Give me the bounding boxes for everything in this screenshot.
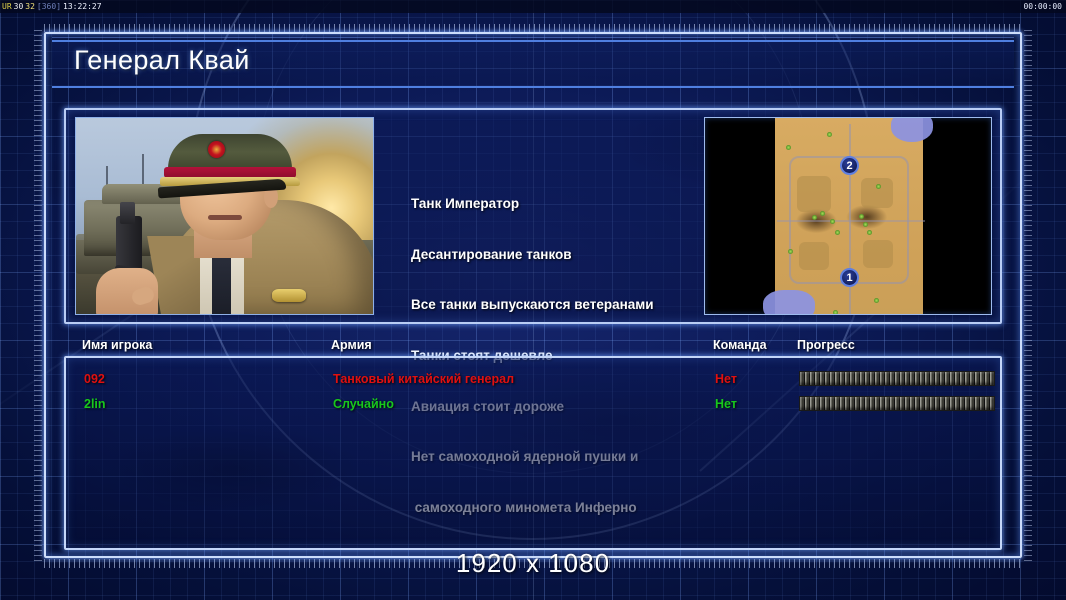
minimap-tree: [820, 211, 825, 216]
status-bar-left: UR3032[360]13:22:27: [2, 0, 104, 13]
status-fps: 30: [14, 2, 24, 11]
loading-screen: UR3032[360]13:22:27 00:00:00 Генерал Ква…: [0, 0, 1066, 600]
header-panel: Генерал Квай: [52, 40, 1014, 88]
minimap-tree: [835, 230, 840, 235]
portrait-tie: [212, 250, 231, 314]
column-header-player-name: Имя игрока: [82, 338, 152, 356]
status-bar: UR3032[360]13:22:27 00:00:00: [0, 0, 1066, 13]
ruler-top: [44, 24, 1022, 32]
column-header-progress: Прогресс: [797, 338, 855, 356]
player-progress-bar: [799, 371, 995, 386]
minimap-tree: [788, 249, 793, 254]
ruler-right: [1024, 30, 1032, 564]
minimap-water-top-right: [891, 117, 933, 142]
status-net-detail: [360]: [37, 2, 61, 11]
player-name: 2lin: [84, 392, 106, 417]
player-progress-bar: [799, 396, 995, 411]
portrait-mouth: [208, 215, 242, 220]
portrait-badge: [272, 289, 306, 302]
general-info-panel: Танк Император Десантирование танков Все…: [64, 108, 1002, 324]
status-timer: 00:00:00: [1023, 0, 1062, 13]
portrait-pistol-barrel: [120, 202, 135, 224]
minimap-tree: [830, 219, 835, 224]
status-clock: 13:22:27: [63, 2, 102, 11]
minimap-tree: [876, 184, 881, 189]
player-name: 092: [84, 367, 105, 392]
table-row: 2lin Случайно Нет: [66, 392, 1000, 417]
minimap-tree: [833, 310, 838, 315]
description-line: Танк Император: [411, 196, 721, 213]
description-line: Десантирование танков: [411, 247, 721, 264]
minimap-tree: [786, 145, 791, 150]
player-team: Нет: [715, 392, 737, 417]
column-header-team: Команда: [713, 338, 767, 356]
minimap: 2 1: [704, 117, 992, 315]
minimap-tree: [863, 222, 868, 227]
player-army: Случайно: [333, 392, 394, 417]
general-portrait: [75, 117, 374, 315]
page-title: Генерал Квай: [74, 45, 250, 76]
player-team: Нет: [715, 367, 737, 392]
player-army: Танковый китайский генерал: [333, 367, 514, 392]
minimap-roads: [789, 156, 909, 284]
column-header-army: Армия: [331, 338, 372, 356]
minimap-start-position-2: 2: [840, 156, 859, 175]
portrait-cap-emblem-icon: [208, 141, 225, 158]
ruler-left: [34, 30, 42, 564]
status-net: 32: [25, 2, 35, 11]
minimap-tree: [874, 298, 879, 303]
minimap-tree: [827, 132, 832, 137]
minimap-terrain: 2 1: [775, 118, 923, 315]
table-row: 092 Танковый китайский генерал Нет: [66, 367, 1000, 392]
description-line: Все танки выпускаются ветеранами: [411, 297, 721, 314]
minimap-start-position-1: 1: [840, 268, 859, 287]
status-ur-label: UR: [2, 2, 12, 11]
players-panel: 092 Танковый китайский генерал Нет 2lin …: [64, 356, 1002, 550]
minimap-water-bottom-left: [763, 290, 815, 315]
minimap-tree: [859, 214, 864, 219]
minimap-tree: [867, 230, 872, 235]
minimap-tree: [812, 215, 817, 220]
resolution-overlay: 1920 x 1080: [0, 548, 1066, 579]
